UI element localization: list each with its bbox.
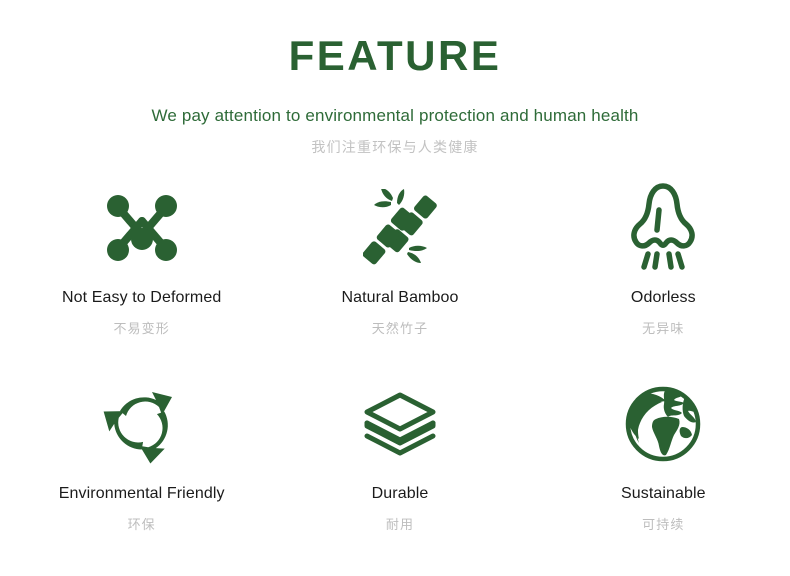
subtitle-chinese: 我们注重环保与人类健康: [0, 137, 790, 157]
feature-label-chinese: 可持续: [642, 514, 684, 533]
feature-item-natural-bamboo[interactable]: Natural Bamboo 天然竹子: [263, 178, 526, 374]
feature-label-chinese: 无异味: [642, 318, 684, 337]
feature-label-english: Environmental Friendly: [59, 485, 225, 503]
feature-item-durable[interactable]: Durable 耐用: [263, 374, 526, 570]
section-header: FEATURE We pay attention to environmenta…: [0, 0, 790, 157]
feature-label-english: Sustainable: [621, 485, 706, 503]
bamboo-icon: [363, 178, 437, 278]
feature-label-english: Durable: [372, 485, 429, 503]
feature-grid: Not Easy to Deformed 不易变形: [0, 178, 790, 570]
feature-label-english: Natural Bamboo: [341, 289, 458, 307]
feature-label-chinese: 天然竹子: [372, 318, 428, 337]
nose-icon: [628, 178, 698, 278]
feature-item-odorless[interactable]: Odorless 无异味: [527, 178, 790, 374]
feature-label-english: Odorless: [631, 289, 696, 307]
layers-stack-icon: [360, 374, 440, 474]
feature-label-chinese: 耐用: [386, 514, 414, 533]
feature-section: FEATURE We pay attention to environmenta…: [0, 0, 790, 576]
feature-item-environmental-friendly[interactable]: Environmental Friendly 环保: [0, 374, 263, 570]
page-title: FEATURE: [0, 34, 790, 78]
feature-label-english: Not Easy to Deformed: [62, 289, 221, 307]
recycle-icon: [102, 374, 182, 474]
feature-label-chinese: 不易变形: [113, 318, 169, 337]
molecule-lattice-icon: [104, 178, 180, 278]
feature-item-sustainable[interactable]: Sustainable 可持续: [527, 374, 790, 570]
subtitle-english: We pay attention to environmental protec…: [0, 106, 790, 126]
feature-item-not-easy-to-deformed[interactable]: Not Easy to Deformed 不易变形: [0, 178, 263, 374]
globe-leaf-icon: [622, 374, 704, 474]
feature-label-chinese: 环保: [128, 514, 156, 533]
